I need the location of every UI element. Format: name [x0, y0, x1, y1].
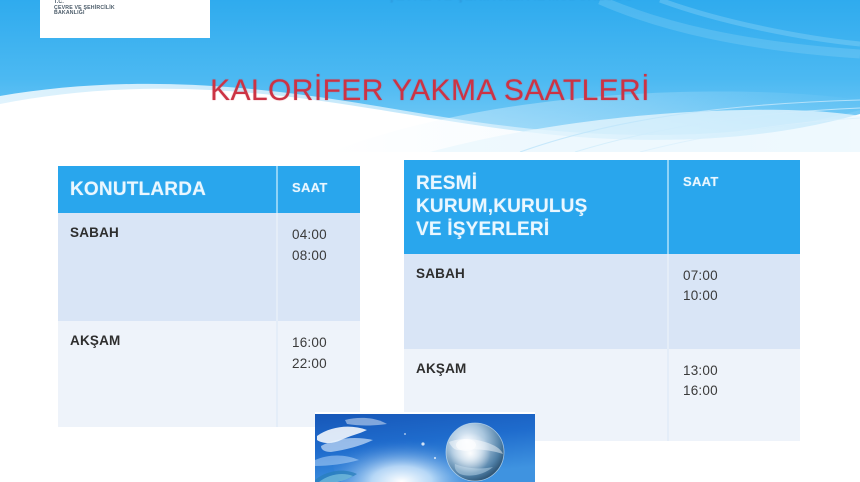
time-start: 07:00	[683, 266, 800, 287]
time-end: 10:00	[683, 286, 800, 307]
row-label-aksam: AKŞAM	[58, 321, 277, 427]
row-label-sabah: SABAH	[58, 213, 277, 321]
row-times-sabah: 07:00 10:00	[668, 254, 800, 349]
time-start: 16:00	[292, 333, 360, 354]
column-header-category: RESMİ KURUM,KURULUŞ VE İŞYERLERİ	[404, 160, 668, 254]
header-line-3: VE İŞYERLERİ	[416, 218, 667, 241]
table-row: SABAH 04:00 08:00	[58, 213, 360, 321]
table-header-row: KONUTLARDA SAAT	[58, 166, 360, 213]
row-times-aksam: 13:00 16:00	[668, 349, 800, 441]
row-times-sabah: 04:00 08:00	[277, 213, 360, 321]
table-header-row: RESMİ KURUM,KURULUŞ VE İŞYERLERİ SAAT	[404, 160, 800, 254]
row-label-sabah: SABAH	[404, 254, 668, 349]
column-header-category: KONUTLARDA	[58, 166, 277, 213]
globe-sky-illustration	[315, 414, 535, 482]
time-start: 13:00	[683, 361, 800, 382]
globe-sky-photo	[315, 412, 535, 482]
ministry-logo-text: T.C. ÇEVRE VE ŞEHİRCİLİK BAKANLIĞI	[54, 0, 115, 17]
ministry-logo: T.C. ÇEVRE VE ŞEHİRCİLİK BAKANLIĞI	[40, 0, 210, 38]
table-resmi-kurum: RESMİ KURUM,KURULUŞ VE İŞYERLERİ SAAT SA…	[404, 160, 800, 441]
header-line-2: KURUM,KURULUŞ	[416, 195, 667, 218]
time-end: 16:00	[683, 381, 800, 402]
time-start: 04:00	[292, 225, 360, 246]
logo-line-3: BAKANLIĞI	[54, 11, 115, 17]
banner-top-heading: ÇEVRE VE ŞEHİRCİLİK İL MÜDÜRLÜĞÜ	[300, 0, 720, 4]
column-header-saat: SAAT	[277, 166, 360, 213]
page-title: KALORİFER YAKMA SAATLERİ	[0, 74, 860, 108]
table-row: SABAH 07:00 10:00	[404, 254, 800, 349]
table-konutlarda: KONUTLARDA SAAT SABAH 04:00 08:00 AKŞAM …	[58, 166, 360, 427]
column-header-saat: SAAT	[668, 160, 800, 254]
time-end: 22:00	[292, 354, 360, 375]
time-end: 08:00	[292, 246, 360, 267]
header-line-1: RESMİ	[416, 172, 667, 195]
header-banner: T.C. ÇEVRE VE ŞEHİRCİLİK BAKANLIĞI ÇEVRE…	[0, 0, 860, 152]
